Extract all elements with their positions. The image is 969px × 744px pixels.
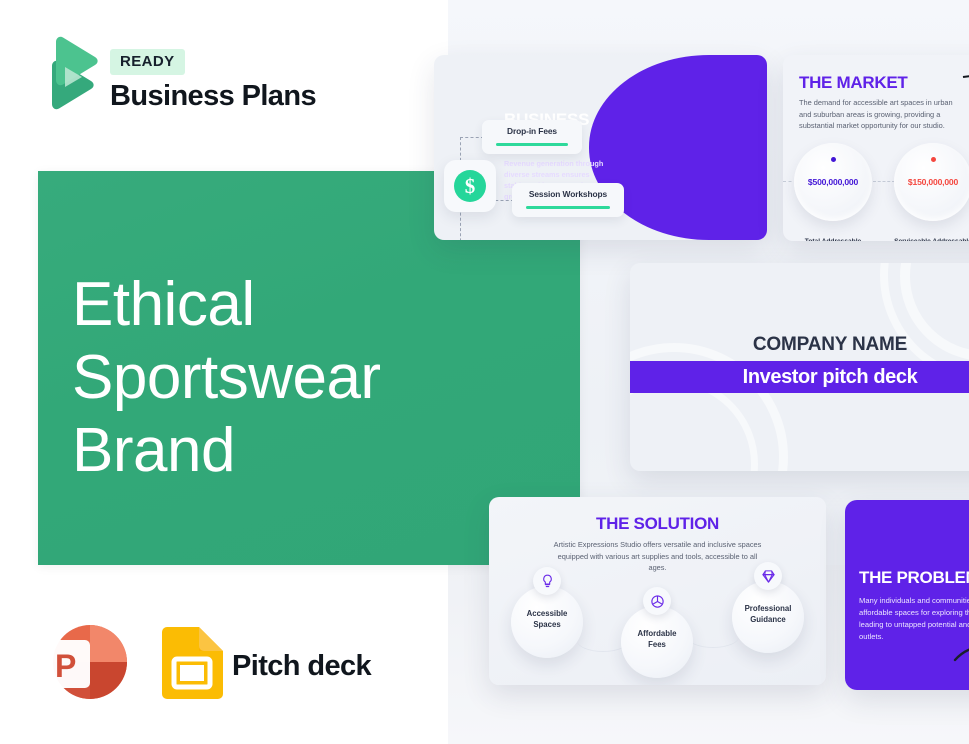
solution-node-label: Accessible Spaces [511, 608, 583, 630]
solution-node-label: Professional Guidance [732, 603, 804, 625]
format-label: Pitch deck [232, 650, 371, 683]
cover-company-name: COMPANY NAME [630, 334, 969, 356]
market-dash-mid [873, 181, 895, 182]
slide-business-model[interactable]: BUSINESS MODEL Revenue generation throug… [434, 55, 767, 240]
market-metric-caption: Total Addressable Market (TAM) [785, 237, 881, 241]
brand-name: Business Plans [110, 80, 316, 113]
solution-description: Artistic Expressions Studio offers versa… [551, 539, 764, 574]
connector-line-top-h [460, 137, 484, 138]
slide-solution[interactable]: THE SOLUTION Artistic Expressions Studio… [489, 497, 826, 685]
solution-connector [687, 625, 739, 648]
slide-problem[interactable]: THE PROBLEM Many individuals and communi… [845, 500, 969, 690]
business-model-item: Drop-in Fees [482, 120, 582, 154]
market-metric-circle: $500,000,000 [794, 143, 872, 221]
page-title: Ethical Sportswear Brand [72, 268, 502, 487]
dollar-sign-icon: $ [454, 170, 486, 202]
play-triangle-logo-icon [38, 36, 100, 114]
market-metric-circle: $150,000,000 [894, 143, 969, 221]
poster-canvas: Ethical Sportswear Brand READY Business … [0, 0, 969, 744]
underline-bar [496, 143, 568, 146]
market-metric-value: $500,000,000 [794, 177, 872, 187]
problem-title: THE PROBLEM [859, 568, 969, 588]
cover-subtitle: Investor pitch deck [630, 366, 969, 389]
market-metric-caption: Serviceable Addressable Market (SAM) [885, 237, 969, 241]
solution-node: Accessible Spaces [511, 586, 583, 658]
slide-market[interactable]: THE MARKET The demand for accessible art… [783, 55, 969, 241]
metric-dot-icon [931, 157, 936, 162]
cover-subtitle-band: Investor pitch deck [630, 361, 969, 393]
problem-description: Many individuals and communities lack ac… [859, 595, 969, 643]
solution-node: Affordable Fees [621, 606, 693, 678]
google-slides-file-icon [156, 626, 229, 700]
diamond-icon [754, 562, 782, 590]
market-title: THE MARKET [799, 73, 907, 93]
solution-node-label: Affordable Fees [621, 628, 693, 650]
svg-text:P: P [55, 648, 76, 684]
metric-dot-icon [831, 157, 836, 162]
slide-cover[interactable]: COMPANY NAME Investor pitch deck [630, 263, 969, 471]
solution-title: THE SOLUTION [489, 514, 826, 534]
business-model-item-label: Session Workshops [512, 189, 624, 199]
market-description: The demand for accessible art spaces in … [799, 97, 961, 132]
brand-lockup: READY Business Plans [38, 36, 338, 118]
ready-badge: READY [110, 49, 185, 75]
business-model-item: Session Workshops [512, 183, 624, 217]
pie-chart-icon [643, 587, 671, 615]
underline-bar [526, 206, 610, 209]
lightbulb-icon [533, 567, 561, 595]
swoosh-icon [953, 640, 969, 666]
curved-arrow-icon [961, 73, 969, 115]
business-model-item-label: Drop-in Fees [482, 126, 582, 136]
powerpoint-file-icon: P [38, 618, 130, 706]
solution-node: Professional Guidance [732, 581, 804, 653]
market-metric-value: $150,000,000 [894, 177, 969, 187]
